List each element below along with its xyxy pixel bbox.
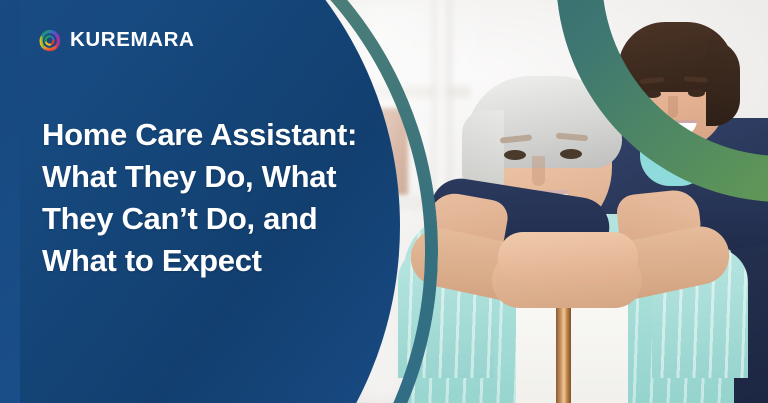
elderly-woman-eye-right xyxy=(560,149,582,159)
brand-logo[interactable]: KUREMARA xyxy=(38,29,194,52)
blog-banner: KUREMARA Home Care Assistant: What They … xyxy=(0,0,768,403)
elderly-woman-eye-left xyxy=(504,150,526,160)
elderly-woman-hand-upper xyxy=(498,232,638,282)
brand-name: KUREMARA xyxy=(70,30,194,51)
banner-headline: Home Care Assistant: What They Do, What … xyxy=(42,114,372,282)
elderly-woman-nose xyxy=(532,156,545,186)
banner-content: KUREMARA Home Care Assistant: What They … xyxy=(0,0,420,403)
swirl-circle-icon xyxy=(38,29,61,52)
